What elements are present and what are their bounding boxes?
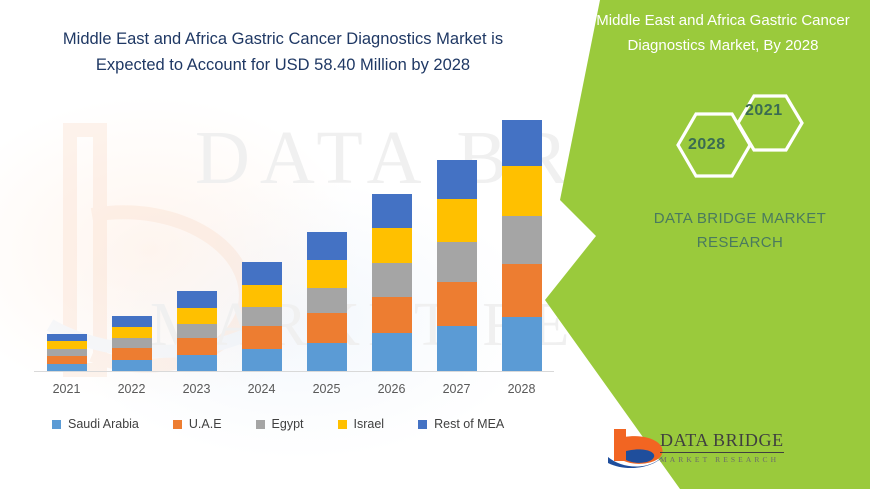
logo-text-block: DATA BRIDGE MARKET RESEARCH	[660, 430, 784, 464]
bar-segment-2025-saudiarabia[interactable]	[307, 343, 347, 372]
bar-segment-2023-uae[interactable]	[177, 338, 217, 355]
bar-segment-2022-restofmea[interactable]	[112, 316, 152, 327]
chart-legend: Saudi ArabiaU.A.EEgyptIsraelRest of MEA	[52, 417, 538, 431]
legend-swatch-icon	[338, 420, 347, 429]
x-label-2022: 2022	[102, 382, 162, 396]
bar-segment-2024-restofmea[interactable]	[242, 262, 282, 285]
hexagon-group: 2028 2021	[660, 90, 830, 200]
x-label-2021: 2021	[37, 382, 97, 396]
bar-segment-2025-egypt[interactable]	[307, 288, 347, 313]
bar-segment-2026-uae[interactable]	[372, 297, 412, 334]
x-label-2024: 2024	[232, 382, 292, 396]
legend-label: Saudi Arabia	[68, 417, 139, 431]
chart-title: Middle East and Africa Gastric Cancer Di…	[28, 26, 538, 78]
infographic-root: DATA BRIDGE MARKET RESEARCH Middle East …	[0, 0, 870, 489]
bar-segment-2023-saudiarabia[interactable]	[177, 355, 217, 372]
legend-label: Egypt	[272, 417, 304, 431]
bar-segment-2021-uae[interactable]	[47, 356, 87, 364]
x-axis-line	[34, 371, 554, 372]
x-label-2028: 2028	[492, 382, 552, 396]
bar-2026[interactable]	[372, 194, 412, 372]
logo-primary-text: DATA BRIDGE	[660, 430, 784, 453]
legend-item-israel[interactable]: Israel	[338, 417, 385, 431]
bar-segment-2021-egypt[interactable]	[47, 349, 87, 356]
bar-segment-2024-israel[interactable]	[242, 285, 282, 307]
bar-segment-2024-uae[interactable]	[242, 326, 282, 349]
bar-segment-2021-israel[interactable]	[47, 341, 87, 349]
logo-secondary-text: MARKET RESEARCH	[660, 455, 784, 464]
bar-2024[interactable]	[242, 262, 282, 372]
bar-segment-2022-israel[interactable]	[112, 327, 152, 339]
bar-segment-2028-egypt[interactable]	[502, 216, 542, 264]
x-label-2027: 2027	[427, 382, 487, 396]
legend-label: Rest of MEA	[434, 417, 504, 431]
bar-segment-2027-israel[interactable]	[437, 199, 477, 241]
bar-2027[interactable]	[437, 160, 477, 372]
bar-segment-2026-egypt[interactable]	[372, 263, 412, 297]
bar-segment-2027-uae[interactable]	[437, 282, 477, 326]
legend-item-restofmea[interactable]: Rest of MEA	[418, 417, 504, 431]
stacked-bar-chart	[34, 110, 554, 372]
legend-item-egypt[interactable]: Egypt	[256, 417, 304, 431]
x-label-2023: 2023	[167, 382, 227, 396]
bar-segment-2024-egypt[interactable]	[242, 307, 282, 326]
legend-label: Israel	[354, 417, 385, 431]
legend-label: U.A.E	[189, 417, 222, 431]
legend-swatch-icon	[173, 420, 182, 429]
legend-swatch-icon	[418, 420, 427, 429]
bar-segment-2028-uae[interactable]	[502, 264, 542, 316]
bar-segment-2027-egypt[interactable]	[437, 242, 477, 282]
hexagon-2028-label: 2028	[688, 136, 726, 154]
bar-segment-2026-israel[interactable]	[372, 228, 412, 263]
bar-segment-2027-saudiarabia[interactable]	[437, 326, 477, 372]
bar-segment-2026-saudiarabia[interactable]	[372, 333, 412, 372]
bar-segment-2022-egypt[interactable]	[112, 338, 152, 348]
bar-segment-2023-israel[interactable]	[177, 308, 217, 324]
bar-2022[interactable]	[112, 316, 152, 372]
bar-segment-2025-uae[interactable]	[307, 313, 347, 342]
green-panel-brand: DATA BRIDGE MARKET RESEARCH	[620, 207, 860, 255]
bar-2028[interactable]	[502, 120, 542, 372]
hexagon-2021-label: 2021	[745, 102, 783, 120]
bar-segment-2025-restofmea[interactable]	[307, 232, 347, 260]
bar-segment-2023-restofmea[interactable]	[177, 291, 217, 308]
bar-segment-2022-uae[interactable]	[112, 348, 152, 360]
bar-2021[interactable]	[47, 334, 87, 372]
bar-segment-2028-israel[interactable]	[502, 166, 542, 216]
bar-segment-2021-restofmea[interactable]	[47, 334, 87, 341]
x-axis-labels: 20212022202320242025202620272028	[34, 380, 554, 402]
legend-item-saudiarabia[interactable]: Saudi Arabia	[52, 417, 139, 431]
bar-2025[interactable]	[307, 232, 347, 372]
x-label-2025: 2025	[297, 382, 357, 396]
legend-swatch-icon	[52, 420, 61, 429]
bar-segment-2024-saudiarabia[interactable]	[242, 349, 282, 372]
bar-segment-2023-egypt[interactable]	[177, 324, 217, 338]
bar-segment-2028-restofmea[interactable]	[502, 120, 542, 166]
bar-2023[interactable]	[177, 291, 217, 372]
x-label-2026: 2026	[362, 382, 422, 396]
bar-segment-2028-saudiarabia[interactable]	[502, 317, 542, 372]
bar-segment-2027-restofmea[interactable]	[437, 160, 477, 199]
bar-segment-2026-restofmea[interactable]	[372, 194, 412, 228]
green-panel-title: Middle East and Africa Gastric Cancer Di…	[586, 8, 860, 58]
bar-segment-2025-israel[interactable]	[307, 260, 347, 289]
legend-item-uae[interactable]: U.A.E	[173, 417, 222, 431]
legend-swatch-icon	[256, 420, 265, 429]
